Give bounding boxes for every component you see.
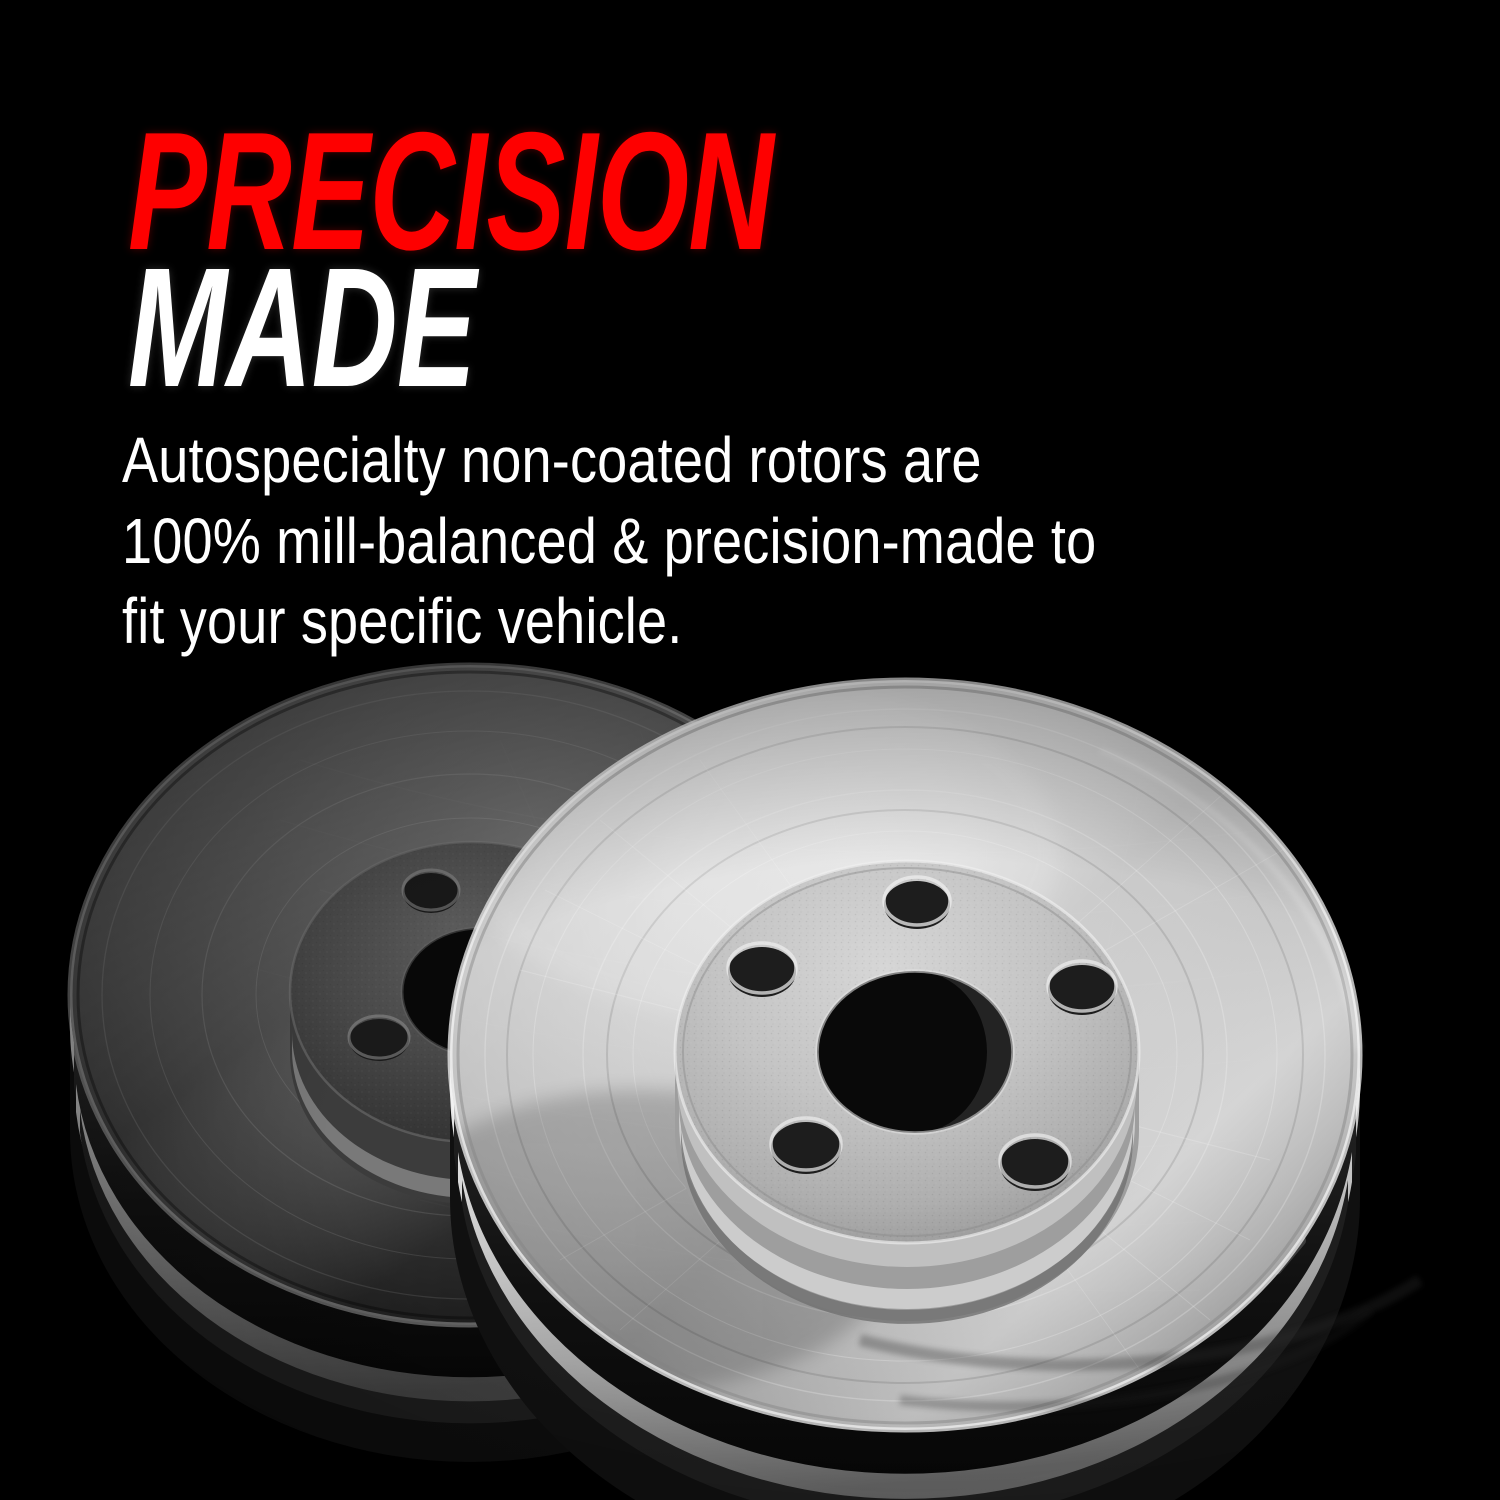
headline-block: PRECISION MADE: [128, 108, 1378, 413]
headline-line-made: MADE: [128, 244, 1003, 412]
rotor-pair-illustration: [0, 640, 1500, 1500]
lug-hole: [884, 877, 950, 929]
front-rotor-hub: [675, 861, 1139, 1324]
promo-banner: PRECISION MADE Autospecialty non-coated …: [0, 0, 1500, 1500]
body-copy-text: Autospecialty non-coated rotors are 100%…: [122, 420, 1128, 662]
body-copy-block: Autospecialty non-coated rotors are 100%…: [122, 420, 1312, 662]
lug-hole: [771, 1118, 841, 1174]
product-photo: [0, 640, 1500, 1500]
lug-hole: [1000, 1135, 1070, 1191]
lug-hole: [1048, 961, 1116, 1015]
lug-hole: [728, 943, 796, 997]
